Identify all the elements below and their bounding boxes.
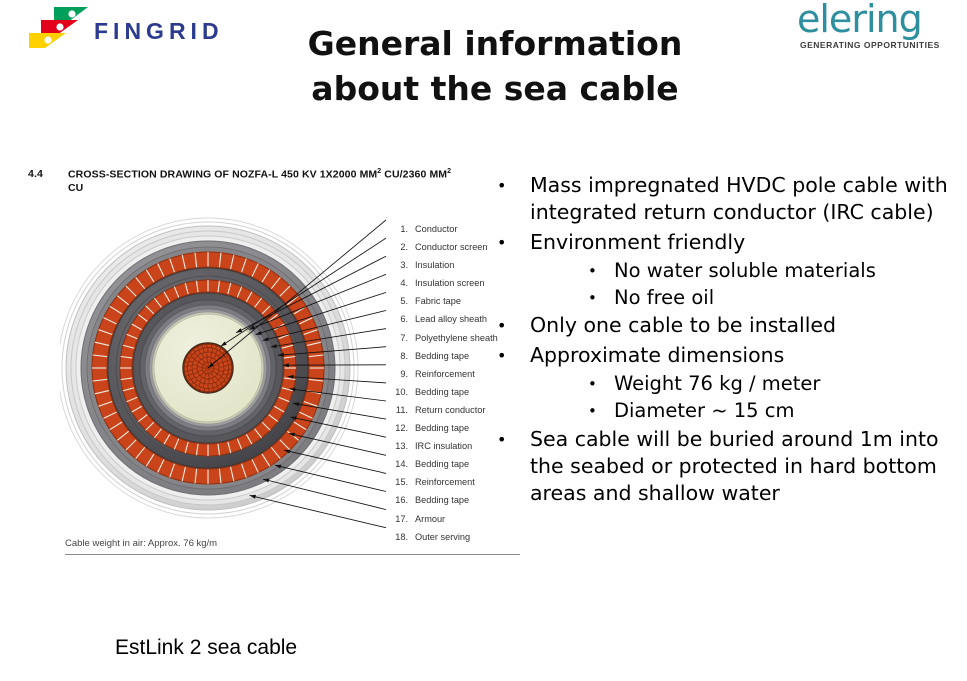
legend-label: Bedding tape [415, 459, 469, 469]
cable-figure-panel: 4.4CROSS-SECTION DRAWING OF NOZFA-L 450 … [20, 168, 500, 568]
legend-number: 3. [386, 256, 415, 274]
figure-caption: EstLink 2 sea cable [115, 636, 297, 660]
legend-label: Reinforcement [415, 477, 475, 487]
legend-item: 17.Armour [386, 510, 516, 528]
elering-logo: elering GENERATING OPPORTUNITIES [795, 4, 945, 52]
cable-weight-note: Cable weight in air: Approx. 76 kg/m [65, 538, 520, 549]
legend-number: 4. [386, 274, 415, 292]
bullet-text: No free oil [614, 285, 962, 311]
legend-label: Bedding tape [415, 423, 469, 433]
legend-label: Bedding tape [415, 351, 469, 361]
bullet-marker-icon: • [497, 426, 506, 453]
bullet-item-l2: •Diameter ~ 15 cm [492, 398, 962, 424]
bullet-text: Weight 76 kg / meter [614, 371, 962, 397]
bullet-item-l1: •Mass impregnated HVDC pole cable with i… [492, 172, 962, 227]
bullet-text: No water soluble materials [614, 258, 962, 284]
page-title: General information about the sea cable [260, 22, 730, 112]
bullet-text: Only one cable to be installed [530, 312, 962, 339]
legend-label: Insulation [415, 260, 454, 270]
legend-number: 9. [386, 365, 415, 383]
legend-label: Lead alloy sheath [415, 314, 487, 324]
figure-heading: 4.4CROSS-SECTION DRAWING OF NOZFA-L 450 … [28, 168, 498, 195]
elering-wordmark: elering [797, 0, 922, 38]
bullet-marker-icon: • [497, 172, 506, 199]
elering-tagline: GENERATING OPPORTUNITIES [800, 40, 940, 50]
fingrid-sail-mark [28, 6, 90, 50]
slide: FINGRID elering GENERATING OPPORTUNITIES… [0, 0, 967, 681]
figure-heading-text: CROSS-SECTION DRAWING OF NOZFA-L 450 KV … [68, 168, 468, 195]
bullet-marker-icon: • [497, 229, 506, 256]
legend-number: 14. [386, 455, 415, 473]
bullet-text: Mass impregnated HVDC pole cable with in… [530, 172, 962, 227]
bullet-item-l1: •Approximate dimensions [492, 342, 962, 369]
bullet-item-l1: •Environment friendly [492, 229, 962, 256]
bullet-item-l1: •Only one cable to be installed [492, 312, 962, 339]
legend-number: 12. [386, 419, 415, 437]
legend-label: Conductor screen [415, 242, 488, 252]
bullet-text: Diameter ~ 15 cm [614, 398, 962, 424]
fingrid-wordmark: FINGRID [94, 18, 224, 45]
legend-number: 11. [386, 401, 415, 419]
bullet-item-l2: •No water soluble materials [492, 258, 962, 284]
legend-number: 7. [386, 329, 415, 347]
legend-number: 6. [386, 310, 415, 328]
legend-label: Reinforcement [415, 369, 475, 379]
legend-number: 8. [386, 347, 415, 365]
bullet-marker-icon: • [497, 342, 506, 369]
legend-number: 1. [386, 220, 415, 238]
page-title-line2: about the sea cable [260, 67, 730, 112]
legend-number: 5. [386, 292, 415, 310]
bullet-marker-icon: • [497, 312, 506, 339]
bullet-list: •Mass impregnated HVDC pole cable with i… [492, 172, 962, 509]
legend-number: 13. [386, 437, 415, 455]
legend-number: 15. [386, 473, 415, 491]
legend-number: 10. [386, 383, 415, 401]
bullet-item-l2: •No free oil [492, 285, 962, 311]
bullet-item-l2: •Weight 76 kg / meter [492, 371, 962, 397]
legend-label: Fabric tape [415, 296, 461, 306]
legend-label: Conductor [415, 224, 457, 234]
figure-divider [65, 554, 520, 555]
legend-label: Insulation screen [415, 278, 484, 288]
legend-label: Return conductor [415, 405, 485, 415]
fingrid-logo: FINGRID [28, 6, 258, 52]
page-title-line1: General information [260, 22, 730, 67]
bullet-marker-icon: • [588, 285, 597, 311]
figure-section-number: 4.4 [28, 168, 68, 181]
bullet-item-l1: •Sea cable will be buried around 1m into… [492, 426, 962, 508]
legend-number: 16. [386, 491, 415, 509]
bullet-marker-icon: • [588, 398, 597, 424]
bullet-marker-icon: • [588, 371, 597, 397]
bullet-text: Approximate dimensions [530, 342, 962, 369]
legend-label: Bedding tape [415, 495, 469, 505]
legend-number: 2. [386, 238, 415, 256]
legend-label: Bedding tape [415, 387, 469, 397]
legend-number: 17. [386, 510, 415, 528]
bullet-text: Sea cable will be buried around 1m into … [530, 426, 962, 508]
bullet-marker-icon: • [588, 258, 597, 284]
legend-label: IRC insulation [415, 441, 472, 451]
bullet-text: Environment friendly [530, 229, 962, 256]
leader-lines [30, 210, 430, 540]
legend-label: Armour [415, 514, 445, 524]
legend-label: Polyethylene sheath [415, 333, 498, 343]
